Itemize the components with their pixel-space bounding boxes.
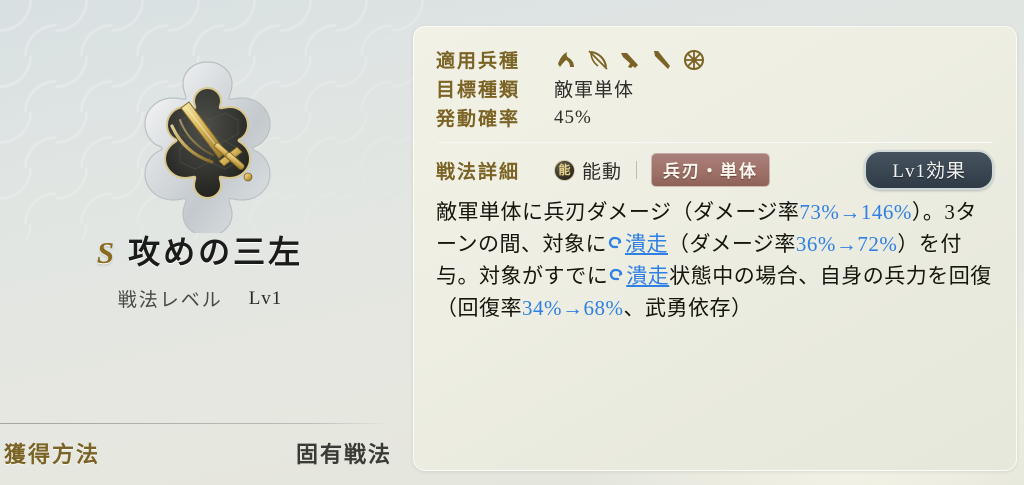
target-type-row: 目標種類 敵軍単体	[436, 74, 994, 103]
trigger-rate-label: 発動確率	[436, 104, 554, 131]
skill-level-label: 戦法レベル	[118, 285, 223, 312]
acquire-method-value: 固有戦法	[296, 437, 392, 469]
skill-title: S 攻めの三左	[0, 236, 400, 268]
trigger-rate-row: 発動確率 45%	[436, 103, 994, 132]
spear-icon	[650, 48, 674, 72]
active-type-icon: 能	[554, 160, 575, 181]
skill-detail-panel: 適用兵種	[413, 26, 1017, 471]
skill-name: 攻めの三左	[128, 236, 303, 268]
troop-type-icons	[554, 48, 706, 72]
cavalry-icon	[554, 48, 578, 72]
status-link-label-1: 潰走	[625, 232, 668, 256]
musket-icon	[618, 48, 642, 72]
skill-type-tag: 兵刃・単体	[651, 153, 770, 187]
troop-type-row: 適用兵種	[436, 45, 994, 74]
desc-seg-1: 敵軍単体に兵刃ダメージ（ダメージ率	[436, 200, 799, 224]
heal-rate: 34%→68%	[522, 296, 624, 320]
archer-icon	[586, 48, 610, 72]
panel-divider	[438, 142, 992, 143]
skill-level-value: Lv1	[249, 288, 283, 310]
status-link-label-2: 潰走	[626, 264, 669, 288]
level-effect-button[interactable]: Lv1効果	[864, 150, 994, 190]
skill-summary-column: S 攻めの三左 戦法レベル Lv1 獲得方法 固有戦法	[0, 0, 400, 485]
acquire-method-label: 獲得方法	[4, 437, 100, 469]
skill-detail-header: 戦法詳細 能 能動 兵刃・単体 Lv1効果	[436, 155, 994, 185]
target-type-label: 目標種類	[436, 75, 554, 102]
header-separator	[636, 161, 637, 179]
rank-badge: S	[97, 237, 114, 268]
troop-type-label: 適用兵種	[436, 46, 554, 73]
desc-seg-6: 、武勇依存）	[624, 296, 753, 320]
skill-level: 戦法レベル Lv1	[0, 285, 400, 312]
active-type-text: 能動	[582, 157, 622, 184]
acquire-method-row: 獲得方法 固有戦法	[0, 432, 400, 474]
skill-detail-screen: S 攻めの三左 戦法レベル Lv1 獲得方法 固有戦法 適用兵種	[0, 0, 1024, 485]
status-link-rout-2[interactable]: 潰走	[608, 264, 669, 288]
damage-rate-2: 36%→72%	[796, 232, 898, 256]
skill-detail-label: 戦法詳細	[436, 157, 554, 184]
status-link-rout-1[interactable]: 潰走	[607, 232, 668, 256]
trigger-rate-value: 45%	[554, 107, 592, 129]
skill-description: 敵軍単体に兵刃ダメージ（ダメージ率73%→146%）。3ターンの間、対象に潰走（…	[436, 197, 994, 325]
target-type-value: 敵軍単体	[554, 75, 634, 102]
golden-sword-emblem	[120, 58, 295, 233]
siege-wheel-icon	[682, 48, 706, 72]
acquire-divider	[0, 423, 388, 424]
desc-seg-3: （ダメージ率	[668, 232, 796, 256]
skill-emblem[interactable]	[120, 58, 295, 233]
rout-arrow-icon	[607, 236, 624, 253]
damage-rate-1: 73%→146%	[799, 200, 912, 224]
rout-arrow-icon	[608, 268, 625, 285]
